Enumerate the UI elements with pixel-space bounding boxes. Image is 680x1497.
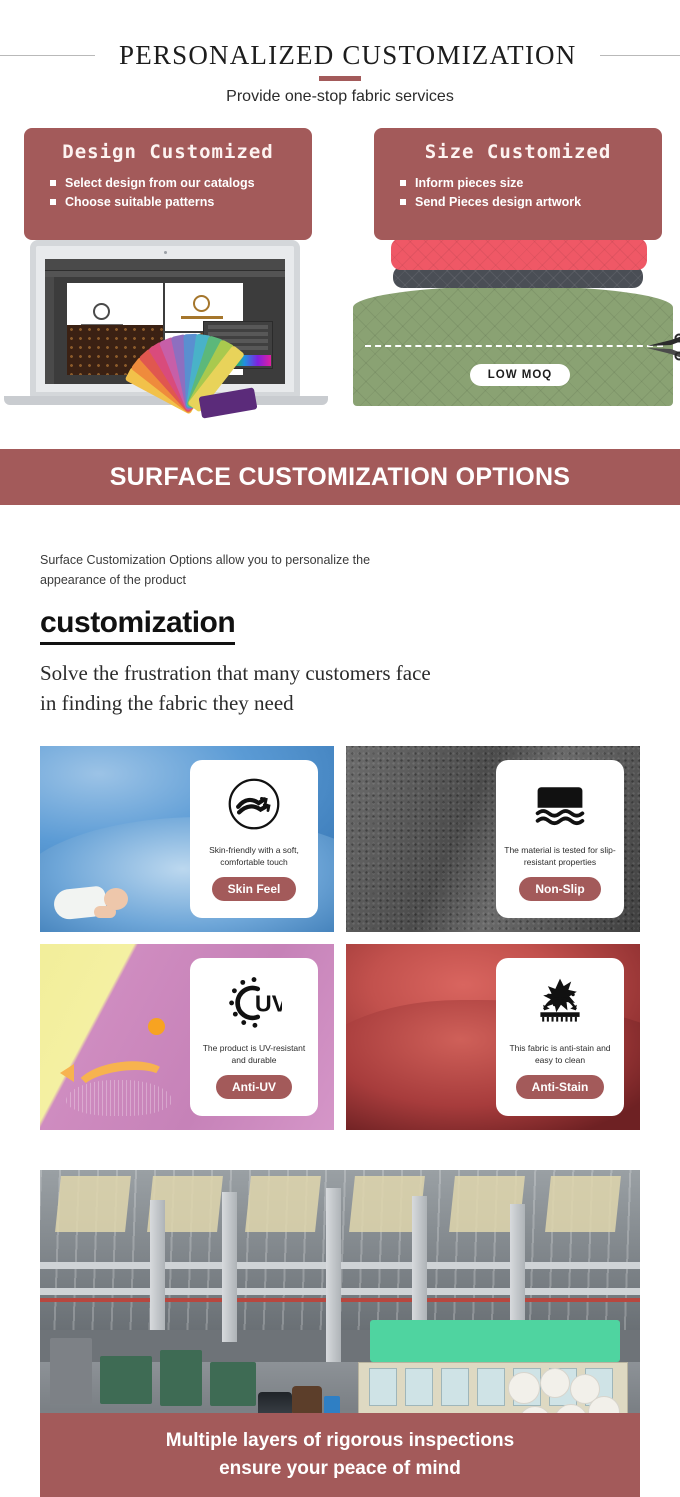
- card-size-customized: Size Customized Inform pieces size Send …: [374, 128, 662, 240]
- intro-keyword: customization: [40, 606, 235, 645]
- customization-cards: LOW MOQ Design Customized Select design …: [0, 128, 680, 428]
- laptop-design-software-photo: [0, 228, 348, 453]
- feature-card-anti-stain[interactable]: This fabric is anti-stain and easy to cl…: [346, 944, 640, 1130]
- intro-lede: Surface Customization Options allow you …: [40, 550, 410, 590]
- feature-grid: Skin-friendly with a soft, comfortable t…: [40, 746, 640, 1142]
- intro-tagline-line1: Solve the frustration that many customer…: [40, 658, 640, 688]
- soft-waves-circle-icon: [224, 774, 284, 834]
- caption-line-1: Multiple layers of rigorous inspections: [166, 1427, 514, 1455]
- factory-caption-bar: Multiple layers of rigorous inspections …: [40, 1413, 640, 1497]
- card-bullet-list: Inform pieces size Send Pieces design ar…: [374, 174, 662, 212]
- support-column: [510, 1204, 525, 1324]
- bullet-text: Choose suitable patterns: [65, 195, 214, 209]
- list-item: Send Pieces design artwork: [400, 193, 662, 212]
- scissors-icon: [645, 332, 680, 362]
- page-title: PERSONALIZED CUSTOMIZATION: [119, 40, 576, 71]
- card-design-customized: Design Customized Select design from our…: [24, 128, 312, 240]
- fabric-roll: [540, 1368, 570, 1398]
- intro-tagline: Solve the frustration that many customer…: [40, 658, 640, 718]
- sleeping-baby-icon: [54, 882, 140, 918]
- machine: [160, 1350, 202, 1406]
- support-column: [326, 1188, 341, 1363]
- feature-description: The product is UV-resistant and durable: [197, 1042, 311, 1066]
- fabric-roll: [508, 1372, 540, 1404]
- webcam-icon: [164, 251, 167, 254]
- bullet-square-icon: [400, 199, 406, 205]
- header-rule-left: [0, 55, 95, 56]
- feature-card-non-slip[interactable]: The material is tested for slip-resistan…: [346, 746, 640, 932]
- feature-row: Skin-friendly with a soft, comfortable t…: [40, 746, 640, 932]
- cut-dashed-line: [365, 345, 663, 347]
- list-item: Select design from our catalogs: [50, 174, 312, 193]
- brand-logo-mark-gold-icon: [193, 295, 210, 312]
- header-subtitle: Provide one-stop fabric services: [0, 88, 680, 106]
- feature-panel: The material is tested for slip-resistan…: [496, 760, 624, 918]
- orange-sun-icon: [148, 1018, 165, 1035]
- non-slip-surface-waves-icon: [530, 774, 590, 834]
- machine: [100, 1356, 152, 1404]
- feature-card-skin-feel[interactable]: Skin-friendly with a soft, comfortable t…: [40, 746, 334, 932]
- bullet-text: Select design from our catalogs: [65, 176, 255, 190]
- app-toolbar: [45, 271, 285, 277]
- caption-line-2: ensure your peace of mind: [219, 1455, 461, 1483]
- app-tool-palette: [45, 277, 54, 384]
- intro-tagline-line2: in finding the fabric they need: [40, 688, 640, 718]
- intro-block: Surface Customization Options allow you …: [40, 550, 640, 718]
- page-root: PERSONALIZED CUSTOMIZATION Provide one-s…: [0, 0, 680, 1497]
- skylight: [55, 1176, 131, 1232]
- quilted-fabric-stack-photo: LOW MOQ: [345, 228, 680, 453]
- bullet-square-icon: [50, 180, 56, 186]
- feature-badge: Anti-UV: [216, 1075, 292, 1099]
- machine: [210, 1362, 256, 1406]
- feature-description: This fabric is anti-stain and easy to cl…: [503, 1042, 617, 1066]
- app-menubar: [45, 259, 285, 271]
- feature-card-anti-uv[interactable]: UV The product is UV-resistant and durab…: [40, 944, 334, 1130]
- fabric-drum: [292, 1386, 322, 1416]
- card-bullet-list: Select design from our catalogs Choose s…: [24, 174, 312, 212]
- stain-repel-splash-icon: [530, 972, 590, 1032]
- list-item: Inform pieces size: [400, 174, 662, 193]
- pantone-color-fan-icon: [186, 314, 341, 414]
- brand-logo-mark-icon: [93, 303, 110, 320]
- skylight: [245, 1176, 321, 1232]
- machine: [50, 1338, 92, 1404]
- bullet-square-icon: [400, 180, 406, 186]
- bullet-square-icon: [50, 199, 56, 205]
- bullet-text: Send Pieces design artwork: [415, 195, 581, 209]
- feature-description: The material is tested for slip-resistan…: [503, 844, 617, 868]
- feature-row: UV The product is UV-resistant and durab…: [40, 944, 640, 1130]
- blue-fabric-swatch: [66, 1080, 172, 1116]
- list-item: Choose suitable patterns: [50, 193, 312, 212]
- sun-uv-icon: UV: [224, 972, 284, 1032]
- feature-description: Skin-friendly with a soft, comfortable t…: [197, 844, 311, 868]
- header-rule-right: [600, 55, 680, 56]
- support-column: [222, 1192, 237, 1342]
- low-moq-badge: LOW MOQ: [470, 364, 570, 386]
- svg-text:UV: UV: [255, 990, 282, 1016]
- feature-panel: UV The product is UV-resistant and durab…: [190, 958, 318, 1116]
- section-banner-title: SURFACE CUSTOMIZATION OPTIONS: [110, 463, 571, 492]
- feature-badge: Anti-Stain: [516, 1075, 605, 1099]
- green-production-line: [370, 1320, 620, 1362]
- feature-badge: Non-Slip: [519, 877, 600, 901]
- header-title-row: PERSONALIZED CUSTOMIZATION: [0, 33, 680, 77]
- feature-badge: Skin Feel: [212, 877, 297, 901]
- feature-panel: Skin-friendly with a soft, comfortable t…: [190, 760, 318, 918]
- card-title: Size Customized: [374, 128, 662, 163]
- support-column: [150, 1200, 165, 1330]
- page-header: PERSONALIZED CUSTOMIZATION Provide one-s…: [0, 0, 680, 120]
- bullet-text: Inform pieces size: [415, 176, 523, 190]
- red-quilted-fabric: [391, 238, 647, 270]
- skylight: [545, 1176, 621, 1232]
- uv-deflect-arrow-icon: [60, 1064, 74, 1082]
- feature-panel: This fabric is anti-stain and easy to cl…: [496, 958, 624, 1116]
- header-accent-dash: [319, 76, 361, 81]
- section-banner: SURFACE CUSTOMIZATION OPTIONS: [0, 449, 680, 505]
- card-title: Design Customized: [24, 128, 312, 163]
